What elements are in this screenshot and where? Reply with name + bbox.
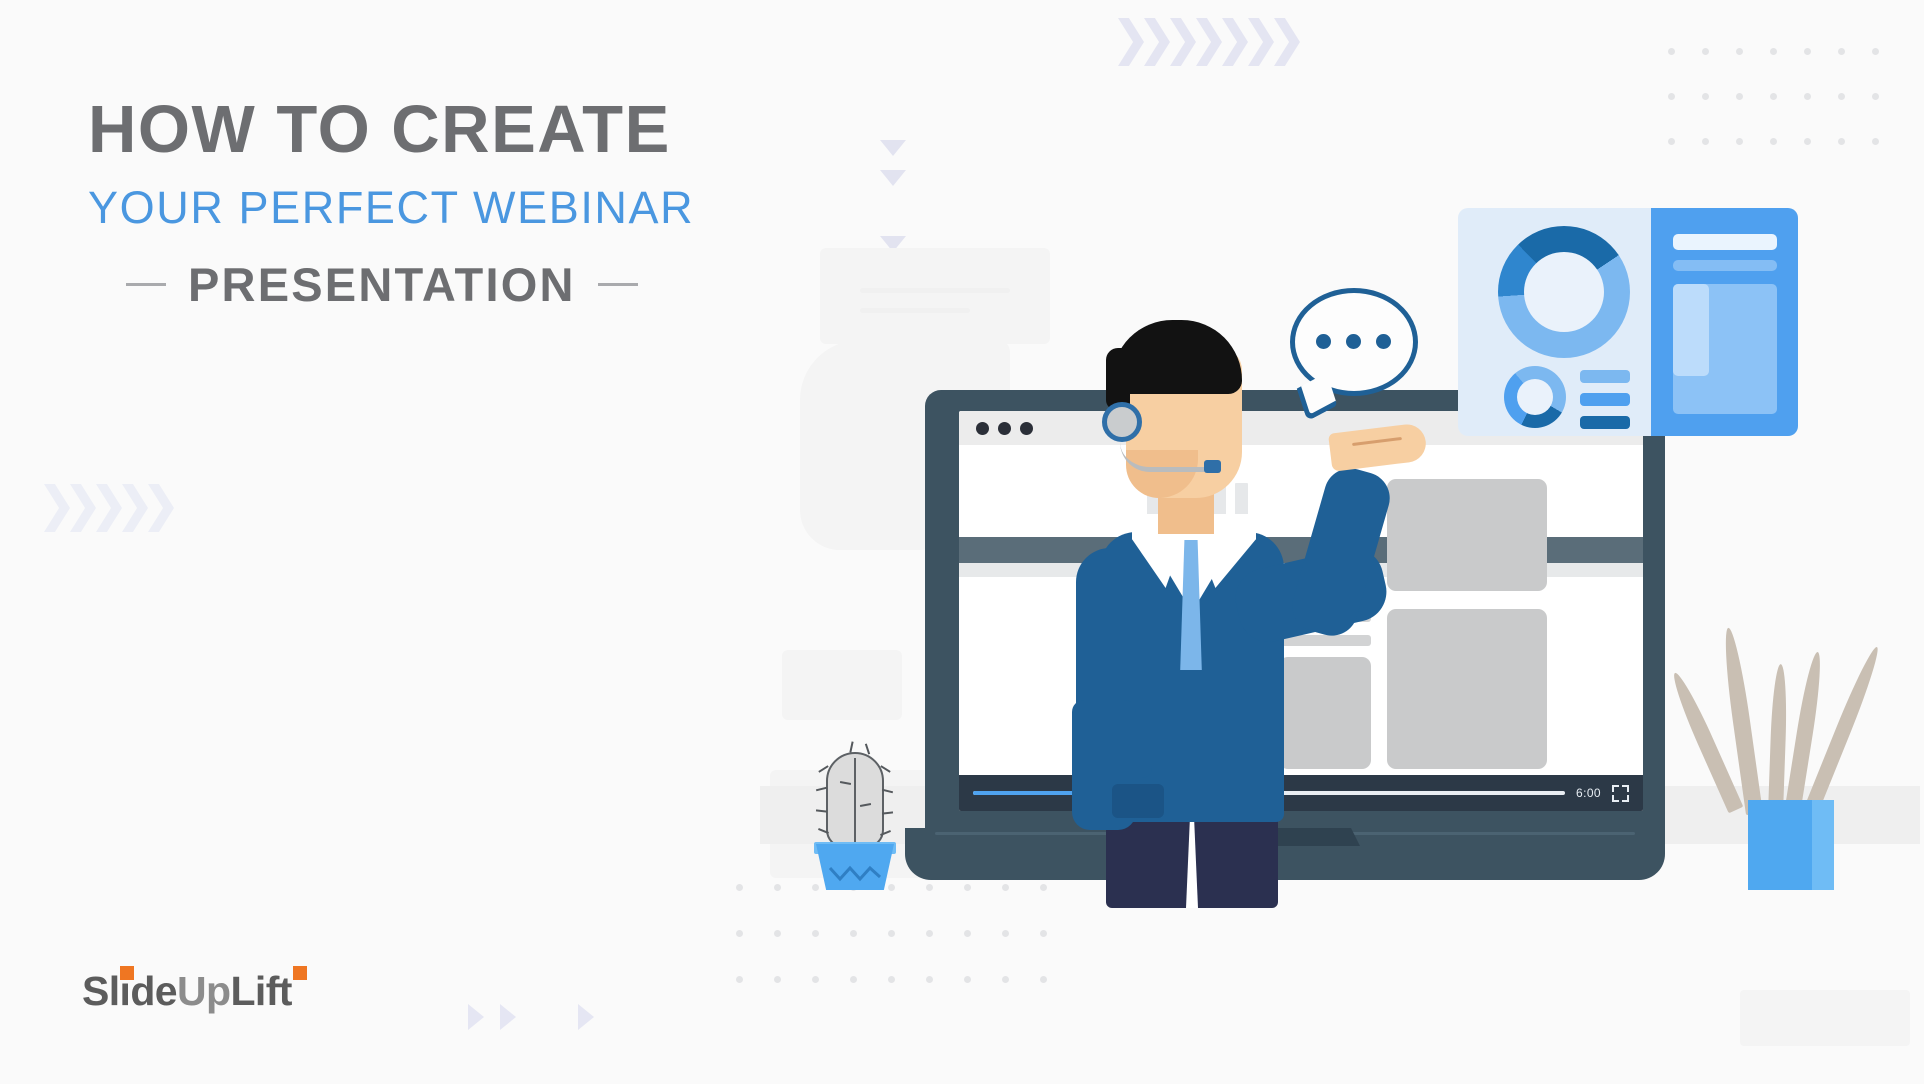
grid-dot bbox=[1838, 93, 1845, 100]
dashboard-title-bar bbox=[1673, 234, 1777, 250]
legend-bar bbox=[1580, 393, 1630, 406]
grid-dot bbox=[888, 976, 895, 983]
grid-dot bbox=[1804, 93, 1811, 100]
cactus-spine bbox=[882, 811, 893, 814]
chevron-right-icon bbox=[122, 484, 148, 532]
headset-microphone-icon bbox=[1204, 460, 1221, 473]
legend-bar bbox=[1580, 370, 1630, 383]
chevron-right-icon bbox=[1170, 18, 1196, 66]
chevron-right-icon bbox=[96, 484, 122, 532]
page-subtitle: YOUR PERFECT WEBINAR bbox=[88, 178, 928, 239]
grid-dot bbox=[1668, 48, 1675, 55]
grid-dot bbox=[736, 930, 743, 937]
chevron-right-icon bbox=[1144, 18, 1170, 66]
donut-chart-large bbox=[1498, 226, 1630, 358]
analytics-dashboard-card bbox=[1458, 208, 1798, 436]
chevron-right-icon bbox=[44, 484, 70, 532]
speech-bubble bbox=[1290, 288, 1418, 396]
triangle-right-icon bbox=[500, 1004, 516, 1030]
typing-dot-icon bbox=[1346, 334, 1361, 349]
page-title: HOW TO CREATE bbox=[88, 96, 928, 164]
grid-dot bbox=[926, 976, 933, 983]
grid-dot bbox=[812, 930, 819, 937]
chevron-arrows-top bbox=[1118, 18, 1300, 66]
video-timestamp: 6:00 bbox=[1576, 786, 1601, 800]
dashboard-right-panel bbox=[1651, 208, 1798, 436]
grid-dot bbox=[1040, 930, 1047, 937]
logo-part-up: Up bbox=[177, 968, 230, 1014]
chevron-right-icon bbox=[148, 484, 174, 532]
headline-block: HOW TO CREATE YOUR PERFECT WEBINAR PRESE… bbox=[88, 96, 928, 312]
grid-dot bbox=[1040, 976, 1047, 983]
grid-dot bbox=[774, 976, 781, 983]
donut-chart-small bbox=[1504, 366, 1566, 428]
cactus-spine bbox=[816, 809, 827, 812]
grid-dot bbox=[1736, 138, 1743, 145]
grid-dot bbox=[1804, 48, 1811, 55]
brand-logo-text: SlideUpLift bbox=[82, 968, 292, 1015]
presenter-sideburn bbox=[1106, 348, 1130, 410]
presenter-right-forearm bbox=[1286, 462, 1396, 642]
window-dot-icon[interactable] bbox=[998, 422, 1011, 435]
dashboard-highlight-block bbox=[1673, 284, 1709, 376]
planter-side bbox=[1812, 800, 1834, 890]
grid-dot bbox=[964, 930, 971, 937]
triangle-right-icon bbox=[578, 1004, 594, 1030]
chevron-right-icon bbox=[1118, 18, 1144, 66]
grid-dot bbox=[736, 884, 743, 891]
grid-dot bbox=[1002, 930, 1009, 937]
divider-dash-right bbox=[598, 283, 638, 286]
grid-dot bbox=[1702, 138, 1709, 145]
grid-dot bbox=[1770, 93, 1777, 100]
headset-boom bbox=[1120, 442, 1212, 472]
chevron-right-icon bbox=[1222, 18, 1248, 66]
grid-dot bbox=[736, 976, 743, 983]
grid-dot bbox=[1002, 976, 1009, 983]
page-title-third: PRESENTATION bbox=[188, 257, 576, 312]
cactus-plant bbox=[800, 752, 910, 892]
dashboard-subtitle-bar bbox=[1673, 260, 1777, 271]
grid-dot bbox=[1838, 138, 1845, 145]
cactus-pot-zigzag bbox=[828, 864, 882, 882]
grid-dot bbox=[1872, 48, 1879, 55]
ghost-shape bbox=[1740, 990, 1910, 1046]
grid-dot bbox=[926, 930, 933, 937]
chevron-right-icon bbox=[1248, 18, 1274, 66]
chevron-right-icon bbox=[1196, 18, 1222, 66]
grid-dot bbox=[850, 930, 857, 937]
window-dot-icon[interactable] bbox=[976, 422, 989, 435]
grid-dot bbox=[1838, 48, 1845, 55]
grid-dot bbox=[1702, 93, 1709, 100]
slide-canvas: HOW TO CREATE YOUR PERFECT WEBINAR PRESE… bbox=[0, 0, 1924, 1084]
fullscreen-icon[interactable] bbox=[1612, 785, 1629, 802]
grid-dot bbox=[774, 930, 781, 937]
grid-dot bbox=[888, 930, 895, 937]
grid-dot bbox=[1872, 93, 1879, 100]
grid-dot bbox=[1668, 93, 1675, 100]
headline-third-row: PRESENTATION bbox=[88, 257, 928, 312]
grass-blade bbox=[1768, 664, 1788, 814]
chevron-right-icon bbox=[1274, 18, 1300, 66]
grid-dot bbox=[774, 884, 781, 891]
triangle-right-icon bbox=[468, 1004, 484, 1030]
dot-grid-top-right bbox=[1668, 48, 1888, 178]
grass-planter bbox=[1700, 620, 1880, 890]
presenter-open-hand bbox=[1328, 422, 1428, 471]
cactus-spine bbox=[865, 743, 870, 754]
window-dot-icon[interactable] bbox=[1020, 422, 1033, 435]
grid-dot bbox=[964, 976, 971, 983]
chevron-arrows-left bbox=[44, 484, 174, 532]
presenter-hair bbox=[1112, 320, 1242, 394]
chevron-right-icon bbox=[70, 484, 96, 532]
grid-dot bbox=[1770, 138, 1777, 145]
cactus-spine bbox=[849, 741, 853, 752]
logo-accent-square bbox=[120, 966, 134, 980]
grid-dot bbox=[1702, 48, 1709, 55]
grid-dot bbox=[1770, 48, 1777, 55]
typing-dot-icon bbox=[1316, 334, 1331, 349]
grid-dot bbox=[850, 976, 857, 983]
grid-dot bbox=[1804, 138, 1811, 145]
presenter-pocket bbox=[1112, 784, 1164, 818]
donut-hole bbox=[1517, 379, 1553, 415]
brand-logo[interactable]: SlideUpLift bbox=[82, 968, 292, 1015]
cactus-rib bbox=[854, 758, 856, 844]
ghost-shape bbox=[782, 650, 902, 720]
divider-dash-left bbox=[126, 283, 166, 286]
grid-dot bbox=[1736, 48, 1743, 55]
logo-part-lift: Lift bbox=[230, 968, 291, 1014]
logo-accent-square bbox=[293, 966, 307, 980]
headset-earcup-icon bbox=[1102, 402, 1142, 442]
grid-dot bbox=[1872, 138, 1879, 145]
grid-dot bbox=[1736, 93, 1743, 100]
grid-dot bbox=[1668, 138, 1675, 145]
grid-dot bbox=[812, 976, 819, 983]
donut-hole bbox=[1524, 252, 1604, 332]
legend-bar bbox=[1580, 416, 1630, 429]
typing-dot-icon bbox=[1376, 334, 1391, 349]
